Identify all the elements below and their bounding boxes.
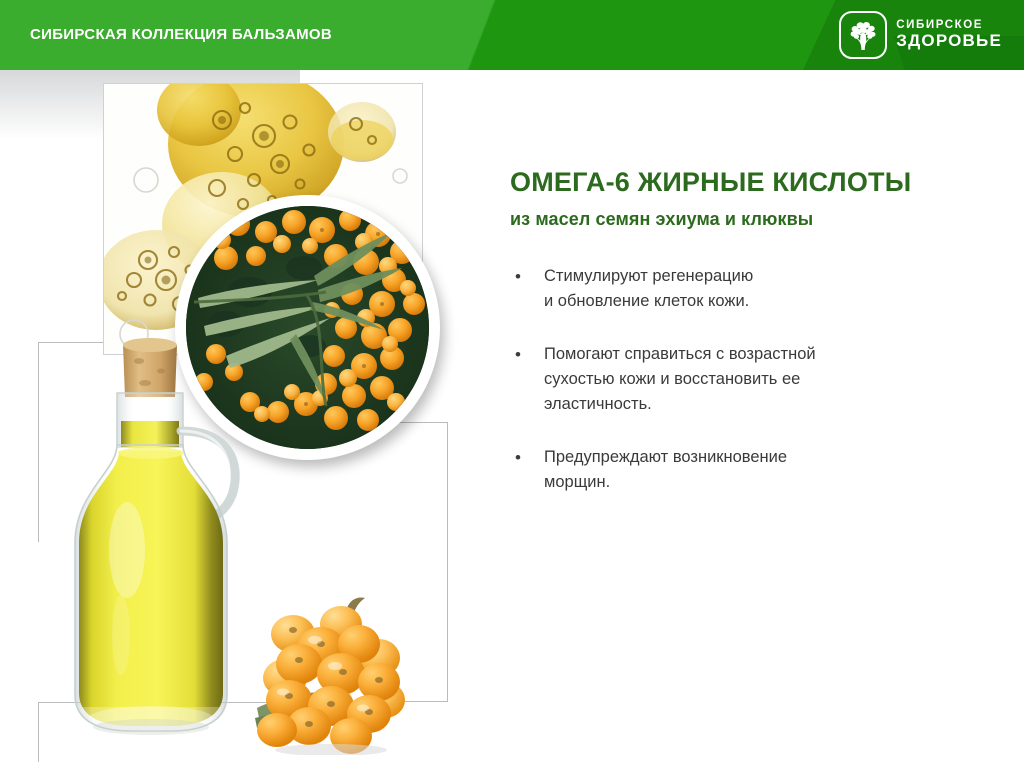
list-item-text: Помогают справиться с возрастной сухость…: [544, 342, 816, 417]
content-column: ОМЕГА-6 ЖИРНЫЕ КИСЛОТЫ из масел семян эх…: [510, 165, 980, 523]
list-item: • Стимулируют регенерацию и обновление к…: [510, 264, 980, 314]
bullet-list: • Стимулируют регенерацию и обновление к…: [510, 264, 980, 496]
tree-icon: [839, 11, 887, 59]
sea-buckthorn-berries-photo: [255, 590, 415, 755]
page-subtitle: из масел семян эхиума и клюквы: [510, 209, 980, 230]
bullet-icon: •: [510, 445, 544, 495]
image-collage: [0, 70, 470, 767]
list-item: • Помогают справиться с возрастной сухос…: [510, 342, 980, 417]
slide: СИБИРСКАЯ КОЛЛЕКЦИЯ БАЛЬЗАМОВ: [0, 0, 1024, 767]
slide-header: СИБИРСКАЯ КОЛЛЕКЦИЯ БАЛЬЗАМОВ: [0, 0, 1024, 70]
list-item-text: Предупреждают возникновение морщин.: [544, 445, 787, 495]
brand-logo: СИБИРСКОЕ ЗДОРОВЬЕ: [839, 8, 1002, 62]
page-title: ОМЕГА-6 ЖИРНЫЕ КИСЛОТЫ: [510, 165, 980, 201]
list-item-text: Стимулируют регенерацию и обновление кле…: [544, 264, 753, 314]
bullet-icon: •: [510, 264, 544, 314]
header-title: СИБИРСКАЯ КОЛЛЕКЦИЯ БАЛЬЗАМОВ: [30, 26, 332, 43]
logo-line-2: ЗДОРОВЬЕ: [896, 32, 1002, 49]
bullet-icon: •: [510, 342, 544, 417]
list-item: • Предупреждают возникновение морщин.: [510, 445, 980, 495]
oil-bottle-photo: [55, 335, 265, 755]
logo-wordmark: СИБИРСКОЕ ЗДОРОВЬЕ: [896, 20, 1002, 49]
